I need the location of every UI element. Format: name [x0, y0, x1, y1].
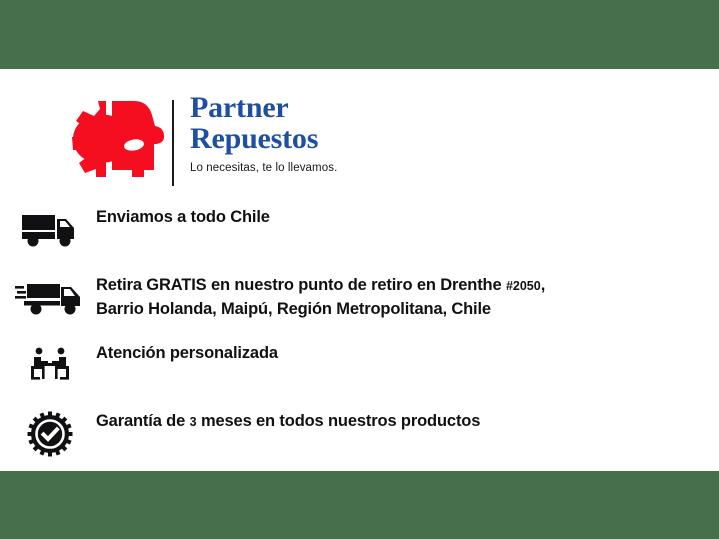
logo-tagline: Lo necesitas, te lo llevamos. [190, 162, 337, 174]
feature-row-warranty: Garantía de 3 meses en todos nuestros pr… [0, 410, 719, 466]
bottom-green-band [0, 471, 719, 539]
logo-wordmark: Partner Repuestos Lo necesitas, te lo ll… [190, 92, 337, 174]
brand-logo: Partner Repuestos Lo necesitas, te lo ll… [0, 88, 719, 193]
feature-text-attention: Atención personalizada [88, 342, 719, 365]
feature-text-warranty: Garantía de 3 meses en todos nuestros pr… [88, 410, 719, 434]
warranty-months-number: 3 [190, 415, 197, 429]
guarantee-badge-icon [12, 410, 88, 458]
feature-row-pickup: Retira GRATIS en nuestro punto de retiro… [0, 274, 719, 330]
truck-icon [12, 206, 88, 254]
meeting-table-icon [12, 342, 88, 390]
feature-row-attention: Atención personalizada [0, 342, 719, 398]
gear-car-logo-icon [60, 95, 168, 183]
pickup-text-before: Retira GRATIS en nuestro punto de retiro… [96, 276, 506, 294]
feature-text-pickup: Retira GRATIS en nuestro punto de retiro… [88, 274, 719, 321]
moving-truck-icon [12, 274, 88, 322]
promo-banner: Partner Repuestos Lo necesitas, te lo ll… [0, 0, 719, 539]
warranty-text-before: Garantía de [96, 412, 190, 430]
logo-name-line1: Partner [190, 92, 337, 123]
pickup-text-after: , [541, 276, 545, 294]
warranty-text-after: meses en todos nuestros productos [197, 412, 481, 430]
feature-text-shipping: Enviamos a todo Chile [88, 206, 719, 229]
top-green-band [0, 0, 719, 69]
logo-divider [172, 100, 174, 186]
feature-row-shipping: Enviamos a todo Chile [0, 206, 719, 262]
pickup-address-number: #2050 [506, 279, 541, 293]
pickup-text-line2: Barrio Holanda, Maipú, Región Metropolit… [96, 298, 719, 321]
logo-name-line2: Repuestos [190, 123, 337, 154]
feature-list: Enviamos a todo Chile Retira GRATIS en [0, 206, 719, 430]
